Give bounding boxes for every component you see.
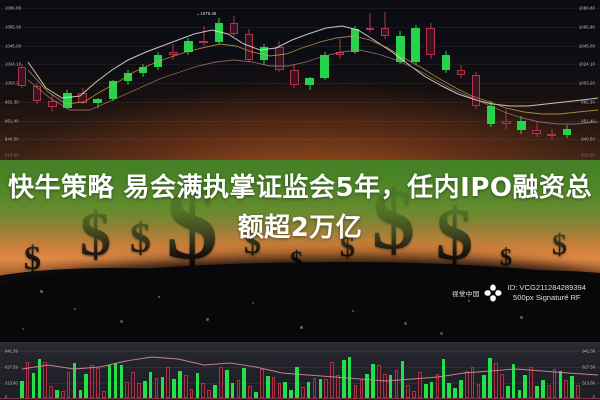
candle-body xyxy=(93,99,101,102)
news-thumbnail-image: 1086.80 1065.90 1045.00 1024.10 1003.20 … xyxy=(0,0,600,400)
candlestick xyxy=(411,25,419,66)
volume-bar xyxy=(166,367,170,398)
volume-bar xyxy=(201,383,205,398)
volume-bar xyxy=(49,386,53,398)
price-axis-label-right: 919.60 xyxy=(581,153,595,158)
candlestick xyxy=(502,109,510,129)
volume-axis-label-right: 941.39 xyxy=(582,349,595,354)
volume-bar xyxy=(55,390,59,398)
candlestick xyxy=(532,122,540,137)
volume-bar xyxy=(553,369,557,398)
volume-bar xyxy=(278,383,282,398)
volume-bar xyxy=(43,362,47,398)
volume-bar xyxy=(570,376,574,398)
candlestick xyxy=(366,13,374,33)
price-axis-label-left: 1065.90 xyxy=(5,25,21,30)
candle-body xyxy=(199,41,207,43)
candle-body xyxy=(245,34,253,60)
volume-bar xyxy=(453,388,457,398)
volume-bar xyxy=(512,364,516,398)
candlestick xyxy=(320,52,328,80)
volume-bar xyxy=(207,390,211,398)
volume-bar xyxy=(61,391,65,398)
price-axis-label-left: 1045.00 xyxy=(5,44,21,49)
candlestick xyxy=(78,88,86,104)
candle-body xyxy=(290,70,298,85)
volume-bar xyxy=(125,382,129,398)
volume-bar xyxy=(108,365,112,398)
volume-bar xyxy=(313,378,317,398)
gridline xyxy=(0,102,600,103)
candlestick xyxy=(260,44,268,65)
candle-body xyxy=(487,106,495,124)
volume-bar xyxy=(143,381,147,398)
price-axis-label-right: 1003.20 xyxy=(579,81,595,86)
gridline xyxy=(0,83,600,84)
volume-baseline xyxy=(0,398,600,399)
volume-bar xyxy=(295,367,299,398)
volume-bar xyxy=(424,384,428,398)
volume-bar xyxy=(523,375,527,398)
volume-bar xyxy=(84,374,88,398)
volume-bar xyxy=(348,357,352,398)
gridline xyxy=(0,351,600,352)
volume-bar xyxy=(248,386,252,398)
volume-bar xyxy=(500,374,504,398)
candlestick xyxy=(351,26,359,54)
volume-bar xyxy=(131,372,135,398)
candle-body xyxy=(275,47,283,70)
volume-bar xyxy=(190,389,194,398)
volume-bar xyxy=(412,391,416,398)
price-candlestick-chart: 1086.80 1065.90 1045.00 1024.10 1003.20 … xyxy=(0,0,600,160)
moving-average-lines xyxy=(0,0,600,160)
volume-bar xyxy=(383,374,387,398)
watermark: 视觉中国 ID: VCG211284289394 500px Signature… xyxy=(452,283,586,303)
volume-bar xyxy=(518,390,522,398)
watermark-id: ID: VCG211284289394 xyxy=(508,283,586,293)
price-axis-label-right: 1024.10 xyxy=(579,62,595,67)
volume-bar xyxy=(20,381,24,398)
headline-line-1: 快牛策略 易会满执掌证监会5年，任内IPO融资总 xyxy=(0,168,600,208)
candle-body xyxy=(184,41,192,52)
volume-bar xyxy=(564,380,568,398)
candlestick xyxy=(199,26,207,46)
candlestick xyxy=(381,12,389,40)
candlestick xyxy=(563,125,571,138)
volume-bar xyxy=(38,359,42,398)
volume-bar xyxy=(319,379,323,398)
volume-bar xyxy=(401,361,405,398)
candlestick xyxy=(457,65,465,78)
candlestick xyxy=(305,77,313,90)
gridline xyxy=(0,46,600,47)
candlestick xyxy=(426,23,434,59)
candle-body xyxy=(109,81,117,99)
candlestick xyxy=(18,64,26,88)
volume-bar xyxy=(272,377,276,398)
volume-bar xyxy=(307,382,311,398)
vcg-pinwheel-logo xyxy=(483,283,503,303)
volume-bar xyxy=(114,363,118,398)
candlestick xyxy=(109,80,117,101)
volume-bar xyxy=(102,391,106,398)
headline-text: 快牛策略 易会满执掌证监会5年，任内IPO融资总 额超2万亿 xyxy=(0,168,600,248)
volume-bar xyxy=(336,375,340,398)
price-axis-label-left: 1086.80 xyxy=(5,6,21,11)
candle-body xyxy=(215,23,223,43)
volume-bar xyxy=(471,367,475,398)
watermark-license: 500px Signature RF xyxy=(508,293,586,303)
volume-bar xyxy=(395,370,399,398)
candlestick xyxy=(154,52,162,70)
volume-bar xyxy=(541,380,545,398)
volume-bar xyxy=(506,386,510,398)
volume-bar xyxy=(237,380,241,398)
volume-axis-label-left: 627.59 xyxy=(5,365,18,370)
candlestick xyxy=(396,31,404,64)
volume-bar xyxy=(79,390,83,398)
volume-bar xyxy=(436,374,440,398)
volume-bar xyxy=(260,369,264,398)
candle-body xyxy=(366,28,374,30)
candle-body xyxy=(230,23,238,34)
volume-bar xyxy=(447,383,451,398)
candlestick xyxy=(33,83,41,104)
volume-bar xyxy=(149,372,153,398)
gridline xyxy=(0,64,600,65)
price-axis-label-right: 961.40 xyxy=(581,119,595,124)
volume-bar xyxy=(172,379,176,398)
price-annotation-label: ←1076.45 xyxy=(196,11,216,16)
candle-body xyxy=(532,130,540,133)
volume-bar xyxy=(137,383,141,398)
volume-bar xyxy=(535,386,539,398)
candle-body xyxy=(260,47,268,60)
volume-bar xyxy=(225,370,229,398)
volume-bar xyxy=(26,362,30,398)
candle-body xyxy=(63,93,71,108)
candle-body xyxy=(48,101,56,108)
volume-bar xyxy=(324,379,328,398)
price-axis-label-left: 961.40 xyxy=(5,119,19,124)
watermark-text-block: ID: VCG211284289394 500px Signature RF xyxy=(508,283,586,303)
volume-bar xyxy=(67,372,71,398)
volume-bar xyxy=(576,385,580,398)
volume-bar xyxy=(342,360,346,398)
candlestick xyxy=(215,18,223,44)
volume-bar xyxy=(442,359,446,398)
headline-line-2: 额超2万亿 xyxy=(0,208,600,248)
gridline xyxy=(0,27,600,28)
volume-bar xyxy=(90,365,94,398)
candlestick xyxy=(184,38,192,56)
volume-bar xyxy=(283,382,287,398)
volume-bar xyxy=(365,374,369,398)
candle-body xyxy=(396,36,404,62)
candle-wick xyxy=(506,109,507,129)
candle-body xyxy=(457,70,465,75)
candlestick xyxy=(63,90,71,110)
candle-body xyxy=(154,55,162,66)
candle-body xyxy=(78,93,86,103)
candle-body xyxy=(139,67,147,74)
volume-bar xyxy=(184,375,188,398)
volume-bar xyxy=(32,373,36,398)
candle-wick xyxy=(339,39,340,59)
volume-bar xyxy=(529,367,533,398)
volume-bar xyxy=(155,378,159,398)
candle-body xyxy=(336,52,344,55)
volume-bar xyxy=(266,376,270,398)
candlestick xyxy=(487,101,495,127)
price-axis-label-left: 919.60 xyxy=(5,153,19,158)
volume-bar xyxy=(242,368,246,398)
gridline xyxy=(0,139,600,140)
candlestick xyxy=(93,98,101,108)
volume-bar xyxy=(488,358,492,398)
candlestick xyxy=(547,129,555,140)
volume-bar xyxy=(178,371,182,398)
candlestick xyxy=(275,41,283,72)
volume-bar xyxy=(354,385,358,398)
volume-bar xyxy=(219,367,223,399)
price-axis-label-right: 982.30 xyxy=(581,100,595,105)
volume-bar xyxy=(196,373,200,398)
price-axis-label-right: 940.50 xyxy=(581,137,595,142)
candle-body xyxy=(381,28,389,36)
candlestick xyxy=(442,51,450,74)
candle-body xyxy=(411,28,419,62)
gridline xyxy=(0,8,600,9)
volume-bar xyxy=(482,375,486,398)
candle-body xyxy=(124,73,132,81)
candle-body xyxy=(169,52,177,55)
volume-bar xyxy=(360,380,364,398)
candle-body xyxy=(33,86,41,101)
volume-bar xyxy=(96,368,100,398)
volume-bar xyxy=(430,382,434,398)
candlestick xyxy=(336,39,344,59)
candle-body xyxy=(305,78,313,85)
volume-bar xyxy=(494,363,498,398)
candlestick xyxy=(517,116,525,134)
volume-bar xyxy=(289,390,293,398)
volume-bar xyxy=(377,365,381,398)
volume-bar xyxy=(120,365,124,398)
volume-bar xyxy=(330,362,334,398)
volume-axis-label-left: 313.60 xyxy=(5,381,18,386)
volume-axis-label-right: 627.59 xyxy=(582,365,595,370)
candlestick xyxy=(472,72,480,109)
volume-axis-label-left: 941.39 xyxy=(5,349,18,354)
volume-bar xyxy=(418,372,422,398)
volume-bar xyxy=(477,384,481,398)
volume-bar xyxy=(389,375,393,398)
candlestick xyxy=(169,44,177,60)
volume-bar xyxy=(73,363,77,398)
volume-bar xyxy=(371,364,375,398)
candle-body xyxy=(563,129,571,136)
price-axis-label-right: 1065.90 xyxy=(579,25,595,30)
candlestick xyxy=(48,94,56,110)
candle-body xyxy=(320,55,328,78)
candle-body xyxy=(18,67,26,87)
candle-body xyxy=(472,75,480,106)
candle-body xyxy=(547,134,555,136)
volume-bar xyxy=(231,383,235,398)
candlestick xyxy=(230,16,238,36)
volume-bar xyxy=(161,377,165,398)
price-axis-label-left: 940.50 xyxy=(5,137,19,142)
volume-bar xyxy=(559,371,563,398)
candlestick xyxy=(245,29,253,62)
candle-body xyxy=(426,28,434,56)
volume-bar xyxy=(459,380,463,398)
candle-body xyxy=(517,121,525,131)
volume-bar xyxy=(301,387,305,398)
volume-bar-chart: 941.39 627.59 313.60 0 941.39 627.59 313… xyxy=(0,342,600,400)
candle-body xyxy=(442,55,450,70)
price-axis-label-right: 1045.00 xyxy=(579,44,595,49)
candle-body xyxy=(351,29,359,52)
watermark-brand-cn: 视觉中国 xyxy=(452,288,480,298)
volume-bar xyxy=(547,385,551,398)
volume-bar xyxy=(213,385,217,398)
volume-axis-label-right: 313.60 xyxy=(582,381,595,386)
candlestick xyxy=(124,70,132,85)
candlestick xyxy=(290,65,298,88)
candle-body xyxy=(502,121,510,124)
price-axis-label-left: 982.30 xyxy=(5,100,19,105)
volume-bar xyxy=(406,385,410,398)
volume-bar xyxy=(465,371,469,398)
price-axis-label-right: 1086.80 xyxy=(579,6,595,11)
candlestick xyxy=(139,64,147,77)
